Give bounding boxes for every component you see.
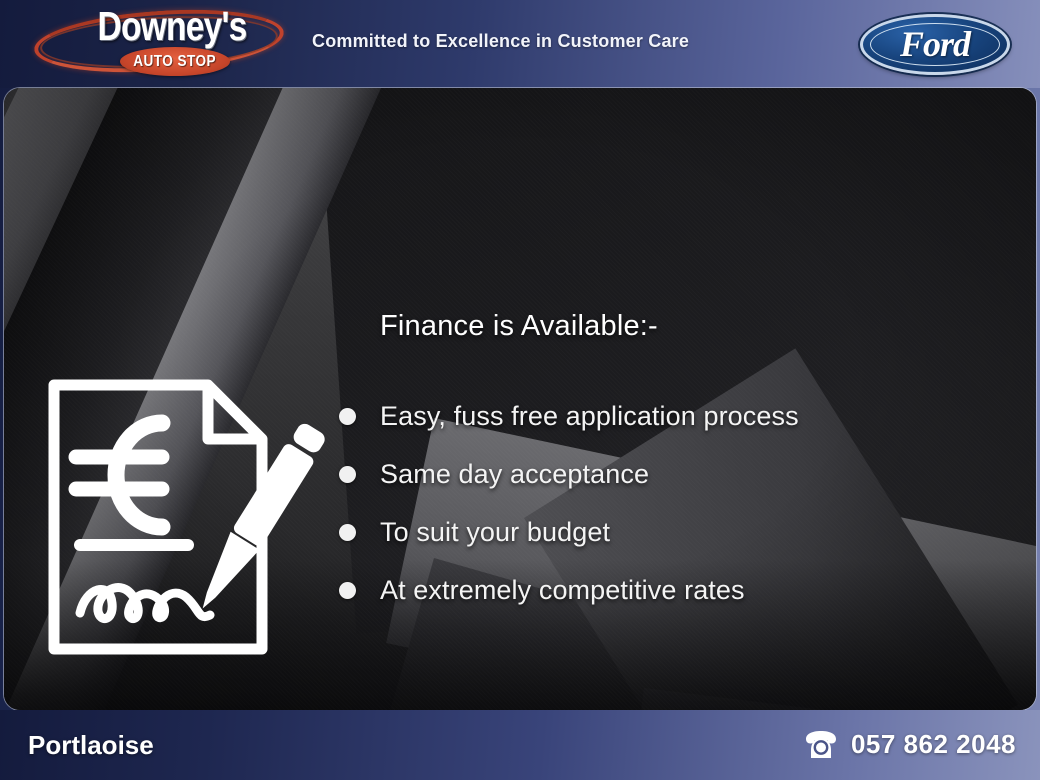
advert-page: Downey's AUTO STOP Committed to Excellen…	[0, 0, 1040, 780]
site-header: Downey's AUTO STOP Committed to Excellen…	[0, 0, 1040, 88]
bullet-dot-icon	[339, 524, 356, 541]
list-item: To suit your budget	[380, 503, 1030, 561]
ford-logo-wordmark: Ford	[860, 23, 1010, 65]
benefit-label: At extremely competitive rates	[380, 575, 745, 606]
telephone-icon	[804, 730, 838, 760]
benefit-label: Same day acceptance	[380, 459, 649, 490]
site-footer: Portlaoise 057 862 2048	[0, 710, 1040, 780]
bullet-dot-icon	[339, 466, 356, 483]
benefit-label: Easy, fuss free application process	[380, 401, 799, 432]
dealer-logo-sub: AUTO STOP	[134, 53, 217, 71]
euro-document-signature-icon	[40, 371, 330, 663]
dealer-logo-name: Downey's	[90, 4, 254, 48]
bullet-dot-icon	[339, 582, 356, 599]
finance-benefit-list: Easy, fuss free application process Same…	[380, 387, 1030, 619]
list-item: Same day acceptance	[380, 445, 1030, 503]
benefit-label: To suit your budget	[380, 517, 610, 548]
list-item: Easy, fuss free application process	[380, 387, 1030, 445]
dealer-location: Portlaoise	[28, 730, 154, 761]
finance-banner-image: Finance is Available:- Easy, fuss free a…	[4, 88, 1036, 710]
phone-number: 057 862 2048	[851, 729, 1016, 760]
list-item: At extremely competitive rates	[380, 561, 1030, 619]
bullet-dot-icon	[339, 408, 356, 425]
header-tagline: Committed to Excellence in Customer Care	[312, 31, 689, 52]
ford-logo[interactable]: Ford	[860, 14, 1010, 75]
dealer-logo-pill: AUTO STOP	[120, 47, 230, 76]
finance-copy-block: Finance is Available:- Easy, fuss free a…	[380, 310, 1030, 619]
dealer-logo[interactable]: Downey's AUTO STOP	[34, 3, 284, 85]
contact-phone[interactable]: 057 862 2048	[804, 729, 1016, 760]
finance-headline: Finance is Available:-	[380, 310, 1030, 343]
